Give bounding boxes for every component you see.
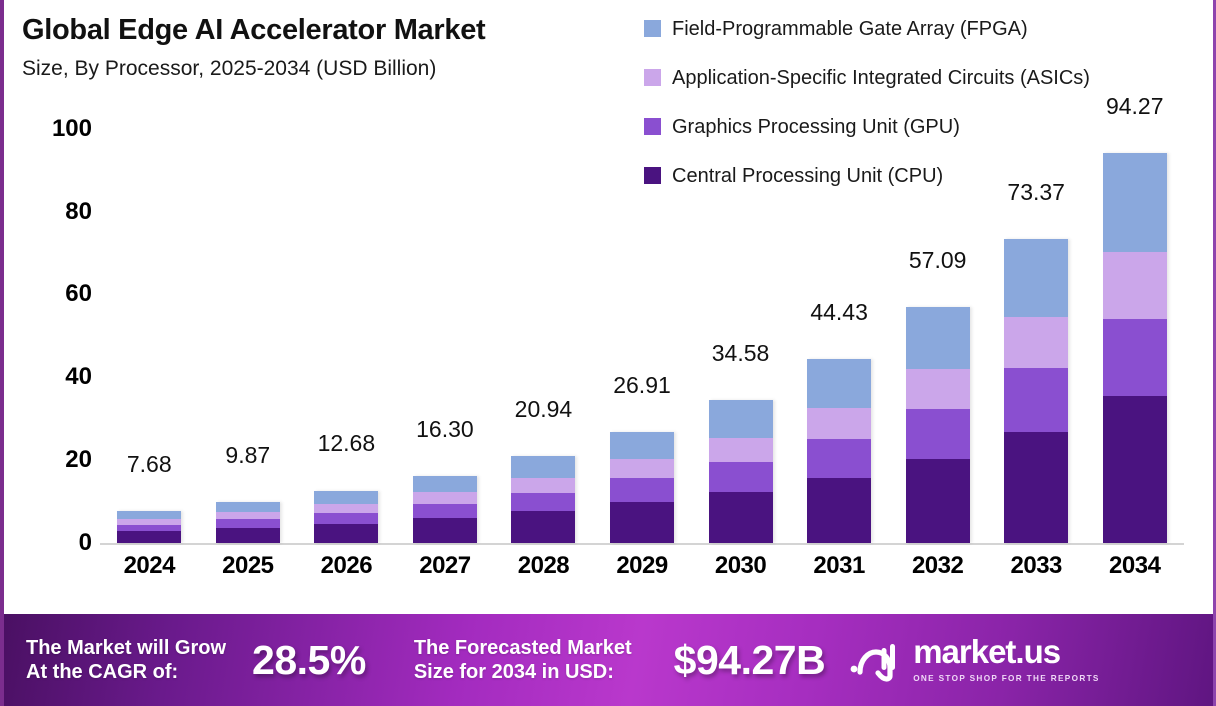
legend-item[interactable]: Field-Programmable Gate Array (FPGA)	[644, 16, 1214, 43]
bar-segment[interactable]	[1103, 319, 1167, 396]
stacked-bar[interactable]	[807, 359, 871, 543]
chart-header: Global Edge AI Accelerator Market Size, …	[22, 14, 642, 82]
bar-segment[interactable]	[610, 502, 674, 543]
legend-item-label: Application-Specific Integrated Circuits…	[672, 65, 1090, 92]
brand-logo[interactable]: market.us ONE STOP SHOP FOR THE REPORTS	[847, 635, 1216, 686]
bar-segment[interactable]	[709, 400, 773, 438]
stacked-bar[interactable]	[906, 307, 970, 543]
x-axis-label: 2027	[396, 552, 495, 592]
cagr-caption: The Market will Grow At the CAGR of:	[26, 636, 226, 685]
bar-segment[interactable]	[511, 493, 575, 511]
brand-text: market.us ONE STOP SHOP FOR THE REPORTS	[913, 635, 1216, 686]
bar-value-label: 12.68	[296, 430, 396, 457]
chart-plot-area: 020406080100 7.689.8712.6816.3020.9426.9…	[4, 100, 1216, 560]
bar-value-label: 7.68	[99, 451, 199, 478]
stacked-bar[interactable]	[413, 476, 477, 543]
x-axis-label: 2032	[888, 552, 987, 592]
bar-column[interactable]: 34.58	[691, 100, 790, 543]
bar-segment[interactable]	[314, 524, 378, 543]
bar-segment[interactable]	[413, 492, 477, 503]
x-axis-label: 2028	[494, 552, 593, 592]
bar-segment[interactable]	[610, 478, 674, 501]
legend-item-label: Field-Programmable Gate Array (FPGA)	[672, 16, 1028, 43]
brand-name: market.us	[913, 633, 1060, 670]
x-axis-labels: 2024202520262027202820292030203120322033…	[100, 552, 1184, 592]
cagr-caption-line1: The Market will Grow	[26, 636, 226, 660]
bar-segment[interactable]	[610, 459, 674, 478]
bar-segment[interactable]	[709, 438, 773, 462]
bar-segment[interactable]	[906, 459, 970, 543]
y-axis-tick: 100	[24, 115, 92, 143]
x-axis-label: 2026	[297, 552, 396, 592]
bar-segment[interactable]	[610, 432, 674, 460]
bar-segment[interactable]	[807, 439, 871, 478]
cagr-block: The Market will Grow At the CAGR of: 28.…	[26, 636, 366, 685]
x-axis-label: 2025	[199, 552, 298, 592]
bar-segment[interactable]	[511, 478, 575, 493]
bar-column[interactable]: 16.30	[396, 100, 495, 543]
bar-segment[interactable]	[1004, 317, 1068, 369]
bar-value-label: 16.30	[395, 416, 495, 443]
stacked-bar[interactable]	[314, 491, 378, 544]
bar-column[interactable]: 9.87	[199, 100, 298, 543]
bar-segment[interactable]	[413, 504, 477, 518]
bar-segment[interactable]	[216, 512, 280, 519]
bar-column[interactable]: 44.43	[790, 100, 889, 543]
bar-column[interactable]: 12.68	[297, 100, 396, 543]
forecast-caption-line2: Size for 2034 in USD:	[414, 660, 632, 684]
legend-item[interactable]: Application-Specific Integrated Circuits…	[644, 65, 1214, 92]
stacked-bar[interactable]	[511, 456, 575, 543]
y-axis-tick: 0	[24, 529, 92, 557]
bar-segment[interactable]	[413, 476, 477, 493]
legend-swatch-fpga	[644, 20, 661, 37]
bar-segment[interactable]	[1004, 239, 1068, 317]
bar-segment[interactable]	[117, 531, 181, 543]
bar-column[interactable]: 94.27	[1085, 100, 1184, 543]
bar-value-label: 73.37	[986, 179, 1086, 206]
bar-segment[interactable]	[906, 369, 970, 409]
x-axis-label: 2029	[593, 552, 692, 592]
bar-segment[interactable]	[511, 456, 575, 478]
bar-segment[interactable]	[1103, 252, 1167, 318]
market-us-logo-icon	[847, 638, 903, 682]
x-axis-label: 2033	[987, 552, 1086, 592]
stacked-bar[interactable]	[610, 432, 674, 543]
y-axis-tick: 60	[24, 280, 92, 308]
x-axis-label: 2030	[691, 552, 790, 592]
cagr-value: 28.5%	[252, 637, 366, 684]
cagr-caption-line2: At the CAGR of:	[26, 660, 226, 684]
stacked-bar[interactable]	[709, 400, 773, 543]
bar-segment[interactable]	[216, 528, 280, 543]
bar-segment[interactable]	[1103, 396, 1167, 543]
bar-segment[interactable]	[807, 359, 871, 408]
bar-value-label: 34.58	[691, 340, 791, 367]
bar-value-label: 26.91	[592, 372, 692, 399]
y-axis-tick: 40	[24, 363, 92, 391]
forecast-caption-line1: The Forecasted Market	[414, 636, 632, 660]
bar-value-label: 57.09	[888, 247, 988, 274]
x-axis-label: 2031	[790, 552, 889, 592]
chart-infographic: Global Edge AI Accelerator Market Size, …	[0, 0, 1216, 706]
y-axis-tick: 20	[24, 446, 92, 474]
bar-segment[interactable]	[216, 502, 280, 512]
bar-segment[interactable]	[709, 462, 773, 492]
bar-value-label: 9.87	[198, 442, 298, 469]
bar-segment[interactable]	[1004, 368, 1068, 432]
footer-banner: The Market will Grow At the CAGR of: 28.…	[4, 614, 1216, 706]
forecast-block: The Forecasted Market Size for 2034 in U…	[414, 636, 825, 685]
forecast-caption: The Forecasted Market Size for 2034 in U…	[414, 636, 632, 685]
bar-segment[interactable]	[314, 513, 378, 524]
stacked-bar[interactable]	[117, 511, 181, 543]
bar-segment[interactable]	[709, 492, 773, 543]
stacked-bar[interactable]	[216, 502, 280, 543]
bar-segment[interactable]	[511, 511, 575, 543]
bar-segment[interactable]	[1004, 432, 1068, 543]
bar-column[interactable]: 26.91	[593, 100, 692, 543]
bar-segment[interactable]	[216, 519, 280, 528]
stacked-bar[interactable]	[1004, 239, 1068, 543]
bar-segment[interactable]	[413, 518, 477, 543]
x-axis-label: 2024	[100, 552, 199, 592]
bar-column[interactable]: 7.68	[100, 100, 199, 543]
x-axis-line	[100, 543, 1184, 545]
brand-tagline: ONE STOP SHOP FOR THE REPORTS	[913, 674, 1100, 683]
bar-column[interactable]: 73.37	[987, 100, 1086, 543]
bar-column[interactable]: 20.94	[494, 100, 593, 543]
bar-segment[interactable]	[807, 478, 871, 543]
bar-group: 7.689.8712.6816.3020.9426.9134.5844.4357…	[100, 100, 1184, 543]
x-axis-label: 2034	[1085, 552, 1184, 592]
bar-segment[interactable]	[1103, 153, 1167, 253]
stacked-bar[interactable]	[1103, 153, 1167, 543]
forecast-value: $94.27B	[674, 637, 826, 684]
bar-value-label: 20.94	[493, 396, 593, 423]
y-axis: 020406080100	[24, 100, 92, 560]
bar-column[interactable]: 57.09	[888, 100, 987, 543]
bar-segment[interactable]	[906, 307, 970, 370]
bar-segment[interactable]	[314, 504, 378, 513]
legend-swatch-asic	[644, 69, 661, 86]
bar-segment[interactable]	[807, 408, 871, 439]
bar-segment[interactable]	[314, 491, 378, 504]
bar-segment[interactable]	[906, 409, 970, 459]
bar-value-label: 94.27	[1085, 93, 1185, 120]
page-title: Global Edge AI Accelerator Market	[22, 14, 642, 47]
y-axis-tick: 80	[24, 198, 92, 226]
bar-segment[interactable]	[117, 525, 181, 532]
bar-value-label: 44.43	[789, 299, 889, 326]
page-subtitle: Size, By Processor, 2025-2034 (USD Billi…	[22, 56, 642, 81]
bar-segment[interactable]	[117, 511, 181, 519]
